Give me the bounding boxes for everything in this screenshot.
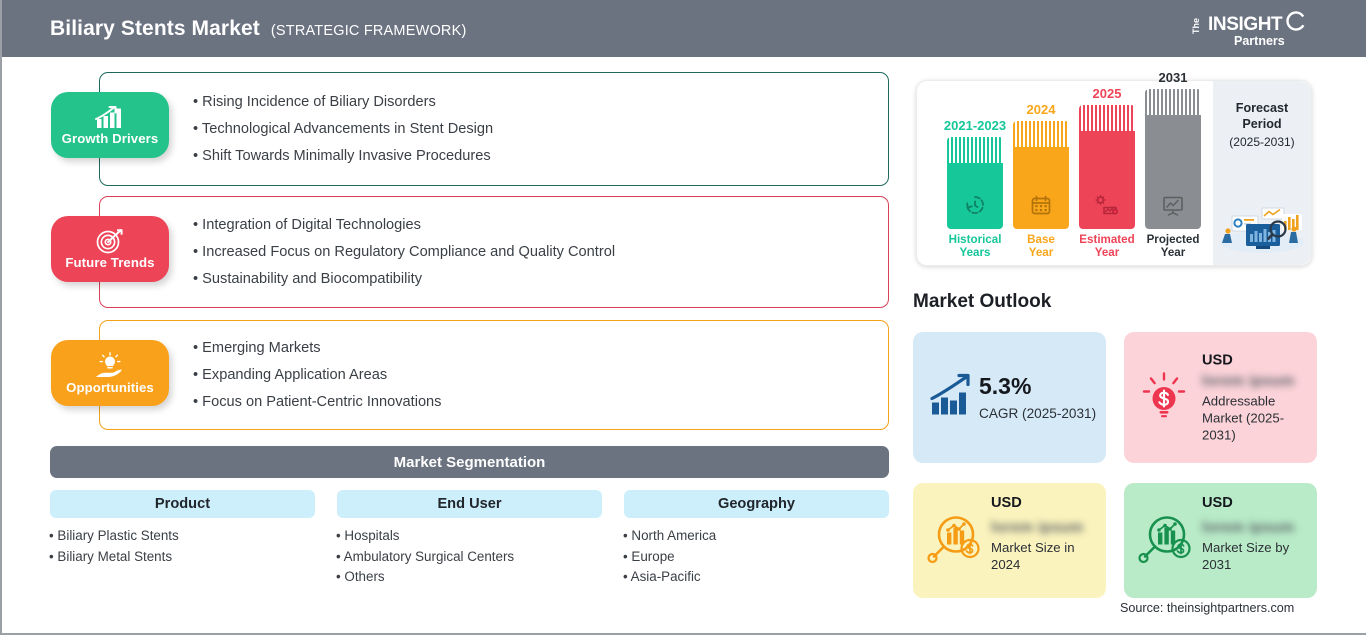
outlook-card-market-size-2031: USD lorem ipsum Market Size by 2031 bbox=[1124, 483, 1317, 598]
forecast-period-range: (2025-2031) bbox=[1229, 135, 1294, 149]
timeline-bar-historical: 2021-2023 Historical bbox=[947, 137, 1003, 229]
hidden-value: lorem ipsum bbox=[1202, 519, 1309, 536]
insight-partners-logo: The INSIGHT Partners bbox=[1186, 8, 1310, 50]
bullet-item: Rising Incidence of Biliary Disorders bbox=[193, 94, 493, 111]
list-item: North America bbox=[623, 526, 716, 547]
badge-label: Future Trends bbox=[65, 255, 154, 270]
bar-caption-line2: Year bbox=[1161, 246, 1186, 259]
segment-list-end-user: Hospitals Ambulatory Surgical Centers Ot… bbox=[336, 526, 514, 588]
bar-fill bbox=[1145, 115, 1201, 229]
bar-year-label: 2024 bbox=[1027, 102, 1056, 117]
bullet-item: Focus on Patient-Centric Innovations bbox=[193, 393, 441, 410]
bar-caption: Historical Years bbox=[949, 233, 1002, 259]
forecast-title-line2: Period bbox=[1242, 117, 1281, 131]
future-trends-panel: Integration of Digital Technologies Incr… bbox=[99, 196, 889, 308]
growth-bar-chart-icon bbox=[929, 372, 979, 423]
badge-growth-drivers: Growth Drivers bbox=[51, 92, 169, 158]
segment-header-product: Product bbox=[50, 490, 315, 518]
currency-label: USD bbox=[1202, 495, 1309, 511]
page-title-text: Biliary Stents Market bbox=[50, 17, 260, 40]
bar-stripe bbox=[947, 137, 1003, 163]
bullet-item: Shift Towards Minimally Invasive Procedu… bbox=[193, 147, 493, 164]
cagr-value: 5.3% bbox=[979, 375, 1098, 398]
bar-caption: Base Year bbox=[1027, 233, 1055, 259]
infographic-page: Biliary Stents Market(STRATEGIC FRAMEWOR… bbox=[0, 0, 1366, 635]
addressable-market-body: USD lorem ipsum Addressable Market (2025… bbox=[1202, 352, 1309, 443]
timeline-bar-base: 2024 bbox=[1013, 121, 1069, 229]
opportunities-panel: Emerging Markets Expanding Application A… bbox=[99, 320, 889, 430]
outlook-card-market-size-2024: USD lorem ipsum Market Size in 2024 bbox=[913, 483, 1106, 598]
page-subtitle: (STRATEGIC FRAMEWORK) bbox=[271, 23, 467, 39]
target-dart-icon bbox=[94, 228, 126, 254]
forecast-timeline-card: 2021-2023 Historical bbox=[916, 80, 1312, 266]
list-item: Hospitals bbox=[336, 526, 514, 547]
bar-caption-line1: Estimated bbox=[1079, 233, 1134, 246]
cagr-label: CAGR (2025-2031) bbox=[979, 406, 1098, 421]
future-trends-bullets: Integration of Digital Technologies Incr… bbox=[193, 217, 615, 287]
bar-caption-line1: Historical bbox=[949, 233, 1002, 246]
list-item: Biliary Metal Stents bbox=[49, 547, 179, 568]
page-header: Biliary Stents Market(STRATEGIC FRAMEWOR… bbox=[2, 0, 1366, 57]
market-size-2031-body: USD lorem ipsum Market Size by 2031 bbox=[1202, 499, 1309, 573]
magnifier-chart-dollar-icon bbox=[927, 512, 983, 569]
outlook-card-addressable-market: USD lorem ipsum Addressable Market (2025… bbox=[1124, 332, 1317, 463]
timeline-bar-estimated: 2025 bbox=[1079, 105, 1135, 229]
market-outlook-title: Market Outlook bbox=[913, 291, 1051, 313]
hand-lightbulb-icon bbox=[92, 352, 128, 379]
market-segmentation-title: Market Segmentation bbox=[50, 446, 889, 478]
bar-year-label: 2021-2023 bbox=[944, 118, 1006, 133]
lightbulb-dollar-icon bbox=[1138, 369, 1190, 426]
bar-caption-line2: Years bbox=[960, 246, 991, 259]
bar-caption-line2: Year bbox=[1029, 246, 1054, 259]
bullet-item: Technological Advancements in Stent Desi… bbox=[193, 121, 493, 138]
bullet-item: Emerging Markets bbox=[193, 340, 441, 357]
list-item: Ambulatory Surgical Centers bbox=[336, 547, 514, 568]
list-item: Others bbox=[336, 567, 514, 588]
calendar-icon bbox=[1030, 194, 1052, 221]
bar-caption: Estimated Year bbox=[1079, 233, 1134, 259]
bar-fill bbox=[947, 163, 1003, 229]
growth-drivers-bullets: Rising Incidence of Biliary Disorders Te… bbox=[193, 94, 493, 164]
timeline-bar-projected: 2031 Projected bbox=[1145, 89, 1201, 229]
badge-label: Opportunities bbox=[66, 380, 154, 395]
badge-label: Growth Drivers bbox=[62, 131, 159, 146]
bar-stripe bbox=[1013, 121, 1069, 147]
clock-history-icon bbox=[964, 194, 986, 221]
list-item: Europe bbox=[623, 547, 716, 568]
presentation-icon bbox=[1161, 194, 1185, 221]
opportunities-bullets: Emerging Markets Expanding Application A… bbox=[193, 340, 441, 410]
analytics-dashboard-illustration bbox=[1216, 198, 1308, 259]
list-item: Biliary Plastic Stents bbox=[49, 526, 179, 547]
svg-text:Partners: Partners bbox=[1234, 34, 1285, 48]
list-item: Asia-Pacific bbox=[623, 567, 716, 588]
source-attribution: Source: theinsightpartners.com bbox=[1120, 601, 1294, 615]
page-title: Biliary Stents Market(STRATEGIC FRAMEWOR… bbox=[50, 17, 467, 41]
currency-label: USD bbox=[1202, 352, 1309, 368]
bar-stripe bbox=[1145, 89, 1201, 115]
magnifier-chart-dollar-icon bbox=[1138, 512, 1194, 569]
forecast-period-panel: Forecast Period (2025-2031) bbox=[1213, 81, 1311, 265]
bar-chart-arrow-icon bbox=[93, 105, 127, 130]
bar-caption-line1: Base bbox=[1027, 233, 1055, 246]
bar-fill bbox=[1079, 131, 1135, 229]
bar-fill bbox=[1013, 147, 1069, 229]
bar-caption-line1: Projected bbox=[1147, 233, 1200, 246]
badge-future-trends: Future Trends bbox=[51, 216, 169, 282]
bullet-item: Integration of Digital Technologies bbox=[193, 217, 615, 234]
segment-header-end-user: End User bbox=[337, 490, 602, 518]
bar-year-label: 2025 bbox=[1093, 86, 1122, 101]
badge-opportunities: Opportunities bbox=[51, 340, 169, 406]
forecast-period-title: Forecast Period bbox=[1236, 100, 1289, 132]
bar-year-label: 2031 bbox=[1159, 70, 1188, 85]
outlook-card-cagr: 5.3% CAGR (2025-2031) bbox=[913, 332, 1106, 463]
card-label: Market Size in 2024 bbox=[991, 539, 1098, 573]
svg-text:INSIGHT: INSIGHT bbox=[1208, 14, 1283, 35]
bar-stripe bbox=[1079, 105, 1135, 131]
card-label: Addressable Market (2025-2031) bbox=[1202, 392, 1309, 443]
segment-list-geography: North America Europe Asia-Pacific bbox=[623, 526, 716, 588]
market-size-2024-body: USD lorem ipsum Market Size in 2024 bbox=[991, 499, 1098, 573]
timeline-bars: 2021-2023 Historical bbox=[933, 81, 1183, 267]
bullet-item: Sustainability and Biocompatibility bbox=[193, 270, 615, 287]
segment-list-product: Biliary Plastic Stents Biliary Metal Ste… bbox=[49, 526, 179, 567]
bullet-item: Increased Focus on Regulatory Compliance… bbox=[193, 244, 615, 261]
bar-caption-line2: Year bbox=[1095, 246, 1120, 259]
forecast-title-line1: Forecast bbox=[1236, 101, 1289, 115]
hidden-value: lorem ipsum bbox=[991, 519, 1098, 536]
bar-caption: Projected Year bbox=[1147, 233, 1200, 259]
svg-text:The: The bbox=[1191, 18, 1201, 34]
segment-header-geography: Geography bbox=[624, 490, 889, 518]
hidden-value: lorem ipsum bbox=[1202, 372, 1309, 389]
chart-gear-icon bbox=[1095, 194, 1119, 221]
growth-drivers-panel: Rising Incidence of Biliary Disorders Te… bbox=[99, 72, 889, 186]
currency-label: USD bbox=[991, 495, 1098, 511]
card-label: Market Size by 2031 bbox=[1202, 539, 1309, 573]
bullet-item: Expanding Application Areas bbox=[193, 367, 441, 384]
cagr-body: 5.3% CAGR (2025-2031) bbox=[979, 375, 1098, 421]
